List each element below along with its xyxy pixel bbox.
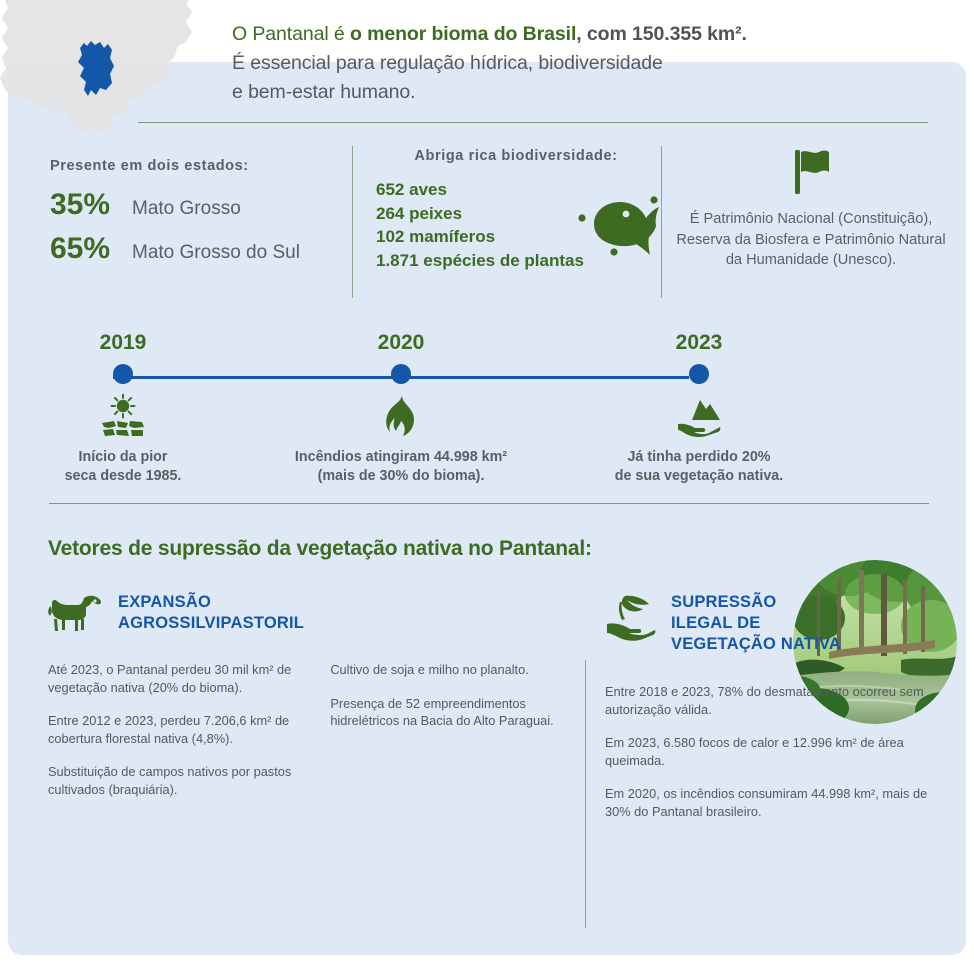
vector-agro-col-1: Até 2023, o Pantanal perdeu 30 mil km² d…	[48, 661, 308, 814]
brazil-map	[0, 0, 237, 153]
biodiversity-label: Abriga rica biodiversidade:	[376, 148, 656, 164]
states-block: Presente em dois estados: 35% Mato Gross…	[50, 158, 320, 274]
timeline-year: 2020	[291, 330, 511, 356]
timeline-node-2019: 2019	[13, 330, 233, 485]
state-percent: 65%	[50, 230, 132, 268]
timeline-caption: Incêndios atingiram 44.998 km² (mais de …	[291, 448, 511, 485]
timeline-caption-line-2: (mais de 30% do bioma).	[291, 467, 511, 486]
divider-top	[138, 122, 928, 123]
state-name: Mato Grosso do Sul	[132, 234, 300, 272]
stats-row: Presente em dois estados: 35% Mato Gross…	[0, 140, 958, 300]
state-row: 65% Mato Grosso do Sul	[50, 230, 320, 272]
headline-line-3: e bem-estar humano.	[232, 78, 932, 107]
vector-agro-columns: Até 2023, o Pantanal perdeu 30 mil km² d…	[48, 661, 568, 814]
timeline-node-2023: 2023 Já tinha perdido 20% de sua vegetaç…	[589, 330, 809, 485]
timeline-year: 2023	[589, 330, 809, 356]
biodiversity-value: 652	[376, 180, 404, 199]
timeline-node-2020: 2020 Incêndios atingiram 44.998 km² (mai…	[291, 330, 511, 485]
headline-part-c: , com 150.355 km².	[576, 23, 747, 45]
vector-agro-item: Substituição de campos nativos por pasto…	[48, 763, 308, 798]
vector-agro-item: Presença de 52 empreendimentos hidrelétr…	[330, 695, 568, 730]
flag-icon	[676, 146, 946, 203]
vector-agro-col-2: Cultivo de soja e milho no planalto. Pre…	[330, 661, 568, 814]
heritage-text: É Patrimônio Nacional (Constituição), Re…	[676, 209, 946, 271]
timeline-caption: Já tinha perdido 20% de sua vegetação na…	[589, 448, 809, 485]
divider-middle	[49, 503, 929, 504]
vector-illegal-item: Entre 2018 e 2023, 78% do desmatamento o…	[605, 683, 935, 718]
vectors-divider	[585, 660, 586, 928]
biodiversity-unit: peixes	[409, 204, 462, 223]
vector-agro-block: EXPANSÃO AGROSSILVIPASTORIL Até 2023, o …	[48, 592, 568, 814]
vector-agro-title: EXPANSÃO AGROSSILVIPASTORIL	[118, 592, 304, 634]
headline-line-1: O Pantanal é o menor bioma do Brasil, co…	[232, 20, 932, 49]
vector-illegal-item: Em 2020, os incêndios consumiram 44.998 …	[605, 785, 935, 820]
vector-agro-header: EXPANSÃO AGROSSILVIPASTORIL	[48, 592, 568, 637]
timeline-caption-line-1: Já tinha perdido 20%	[589, 448, 809, 467]
timeline-caption-line-1: Incêndios atingiram 44.998 km²	[291, 448, 511, 467]
heritage-block: É Patrimônio Nacional (Constituição), Re…	[676, 146, 946, 271]
biodiversity-value: 102	[376, 227, 404, 246]
biodiversity-value: 1.871	[376, 251, 419, 270]
timeline-dot	[391, 364, 411, 384]
timeline-caption: Início da pior seca desde 1985.	[13, 448, 233, 485]
timeline-dot	[689, 364, 709, 384]
vector-agro-title-line-1: EXPANSÃO	[118, 592, 304, 613]
timeline-caption-line-2: seca desde 1985.	[13, 467, 233, 486]
infographic-root: O Pantanal é o menor bioma do Brasil, co…	[0, 0, 974, 977]
stats-divider-1	[352, 146, 353, 298]
vector-agro-item: Até 2023, o Pantanal perdeu 30 mil km² d…	[48, 661, 308, 696]
headline-part-b: o menor bioma do Brasil	[350, 23, 576, 45]
vector-illegal-item: Em 2023, 6.580 focos de calor e 12.996 k…	[605, 734, 935, 769]
stats-divider-2	[661, 146, 662, 298]
vector-agro-title-line-2: AGROSSILVIPASTORIL	[118, 613, 304, 634]
timeline-dot	[113, 364, 133, 384]
states-label: Presente em dois estados:	[50, 158, 320, 174]
vector-illegal-block: SUPRESSÃO ILEGAL DE VEGETAÇÃO NATIVA Ent…	[605, 592, 935, 836]
headline-line-2: É essencial para regulação hídrica, biod…	[232, 49, 932, 78]
state-name: Mato Grosso	[132, 190, 241, 228]
drought-sun-cracked-earth-icon	[13, 394, 233, 438]
state-percent: 35%	[50, 186, 132, 224]
biodiversity-unit: mamíferos	[409, 227, 495, 246]
vector-agro-item: Entre 2012 e 2023, perdeu 7.206,6 km² de…	[48, 712, 308, 747]
headline-part-a: O Pantanal é	[232, 23, 350, 45]
biodiversity-block: Abriga rica biodiversidade: 652 aves 264…	[376, 148, 656, 272]
flame-icon	[291, 394, 511, 438]
vector-illegal-title-line-1: SUPRESSÃO	[671, 592, 841, 613]
timeline-caption-line-1: Início da pior	[13, 448, 233, 467]
timeline-caption-line-2: de sua vegetação nativa.	[589, 467, 809, 486]
headline: O Pantanal é o menor bioma do Brasil, co…	[232, 20, 932, 107]
hand-holding-mountain-icon	[589, 394, 809, 438]
state-row: 35% Mato Grosso	[50, 186, 320, 228]
fish-icon	[570, 190, 660, 261]
biodiversity-unit: espécies de plantas	[423, 251, 584, 270]
hand-holding-plant-icon	[605, 592, 657, 647]
biodiversity-value: 264	[376, 204, 404, 223]
cow-icon	[48, 592, 104, 637]
vector-illegal-items: Entre 2018 e 2023, 78% do desmatamento o…	[605, 683, 935, 820]
vectors-title: Vetores de supressão da vegetação nativa…	[48, 537, 592, 561]
biodiversity-unit: aves	[409, 180, 447, 199]
vector-illegal-title: SUPRESSÃO ILEGAL DE VEGETAÇÃO NATIVA	[671, 592, 841, 655]
vector-illegal-title-line-3: VEGETAÇÃO NATIVA	[671, 634, 841, 655]
timeline-year: 2019	[13, 330, 233, 356]
vector-agro-item: Cultivo de soja e milho no planalto.	[330, 661, 568, 679]
vector-illegal-header: SUPRESSÃO ILEGAL DE VEGETAÇÃO NATIVA	[605, 592, 935, 655]
vector-illegal-title-line-2: ILEGAL DE	[671, 613, 841, 634]
timeline: 2019	[0, 330, 958, 545]
